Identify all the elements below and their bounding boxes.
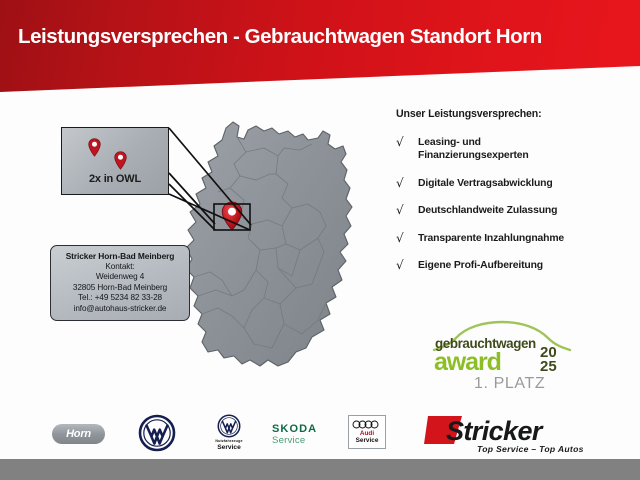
award-badge-svg: gebrauchtwagen award 20 25 1. PLATZ (426, 312, 576, 390)
header-banner: Leistungsversprechen - Gebrauchtwagen St… (0, 0, 640, 92)
list-item: √ Leasing- und Finanzierungsexperten (396, 136, 636, 163)
owl-magnifier-box: 2x in OWL (61, 127, 169, 195)
award-year-bottom: 25 (540, 358, 557, 375)
skoda-service-logo: SKODA Service (272, 423, 317, 446)
list-item: √ Transparente Inzahlungnahme (396, 232, 636, 245)
page-title: Leistungsversprechen - Gebrauchtwagen St… (18, 25, 542, 49)
promise-list-heading: Unser Leistungsversprechen: (396, 108, 636, 120)
audi-wordmark: Audi (360, 430, 374, 437)
audi-service-label: Service (356, 437, 379, 444)
list-item: √ Digitale Vertragsabwicklung (396, 177, 636, 190)
check-icon: √ (396, 232, 418, 245)
promise-item-label: Transparente Inzahlungnahme (418, 232, 564, 245)
address-line-city: 32805 Horn-Bad Meinberg (55, 283, 185, 294)
address-box: Stricker Horn-Bad Meinberg Kontakt: Weid… (50, 245, 190, 321)
check-icon: √ (396, 259, 418, 272)
vw-logo-icon (217, 414, 241, 438)
map-pin-icon (114, 151, 127, 170)
address-line-contact: Kontakt: (55, 262, 185, 273)
horn-logo: Horn (52, 424, 105, 444)
check-icon: √ (396, 204, 418, 217)
vw-logo-icon (138, 414, 176, 457)
audi-service-logo: Audi Service (348, 415, 386, 449)
award-word-award: award (434, 348, 501, 376)
slide-canvas: Leistungsversprechen - Gebrauchtwagen St… (0, 0, 640, 480)
promise-item-line2: Finanzierungsexperten (418, 149, 529, 162)
germany-map (160, 104, 400, 404)
promise-item-label: Leasing- und Finanzierungsexperten (418, 136, 529, 163)
owl-magnifier-label: 2x in OWL (62, 173, 168, 185)
list-item: √ Deutschlandweite Zulassung (396, 204, 636, 217)
list-item: √ Eigene Profi-Aufbereitung (396, 259, 636, 272)
audi-rings-icon (352, 420, 382, 429)
address-line-phone: Tel.: +49 5234 82 33-28 (55, 293, 185, 304)
address-line-email: info@autohaus-stricker.de (55, 304, 185, 315)
award-badge: gebrauchtwagen award 20 25 1. PLATZ (426, 312, 576, 390)
promise-item-label: Deutschlandweite Zulassung (418, 204, 557, 217)
vw-nutzfahrzeuge-logo: Nutzfahrzeuge Service (200, 414, 258, 451)
address-line-name: Stricker Horn-Bad Meinberg (55, 251, 185, 262)
promise-item-label: Digitale Vertragsabwicklung (418, 177, 553, 190)
skoda-service-label: Service (272, 435, 317, 446)
stricker-tagline: Top Service – Top Autos (477, 444, 584, 454)
address-line-street: Weidenweg 4 (55, 272, 185, 283)
stricker-logo-svg: Stricker Top Service – Top Autos (424, 410, 602, 458)
promise-item-line1: Leasing- und (418, 136, 529, 149)
check-icon: √ (396, 136, 418, 149)
vw-nfz-line1: Nutzfahrzeuge (200, 439, 258, 443)
vw-nfz-line2: Service (200, 444, 258, 451)
award-rank: 1. PLATZ (474, 375, 545, 390)
footer-bar (0, 459, 640, 480)
map-country-shape (186, 122, 352, 366)
stricker-wordmark: Stricker (446, 416, 544, 446)
check-icon: √ (396, 177, 418, 190)
map-pin-icon (88, 138, 101, 157)
germany-map-svg (160, 104, 400, 404)
promise-list: Unser Leistungsversprechen: √ Leasing- u… (396, 108, 636, 286)
promise-item-label: Eigene Profi-Aufbereitung (418, 259, 543, 272)
skoda-wordmark: SKODA (272, 423, 317, 435)
stricker-logo: Stricker Top Service – Top Autos (424, 410, 602, 458)
